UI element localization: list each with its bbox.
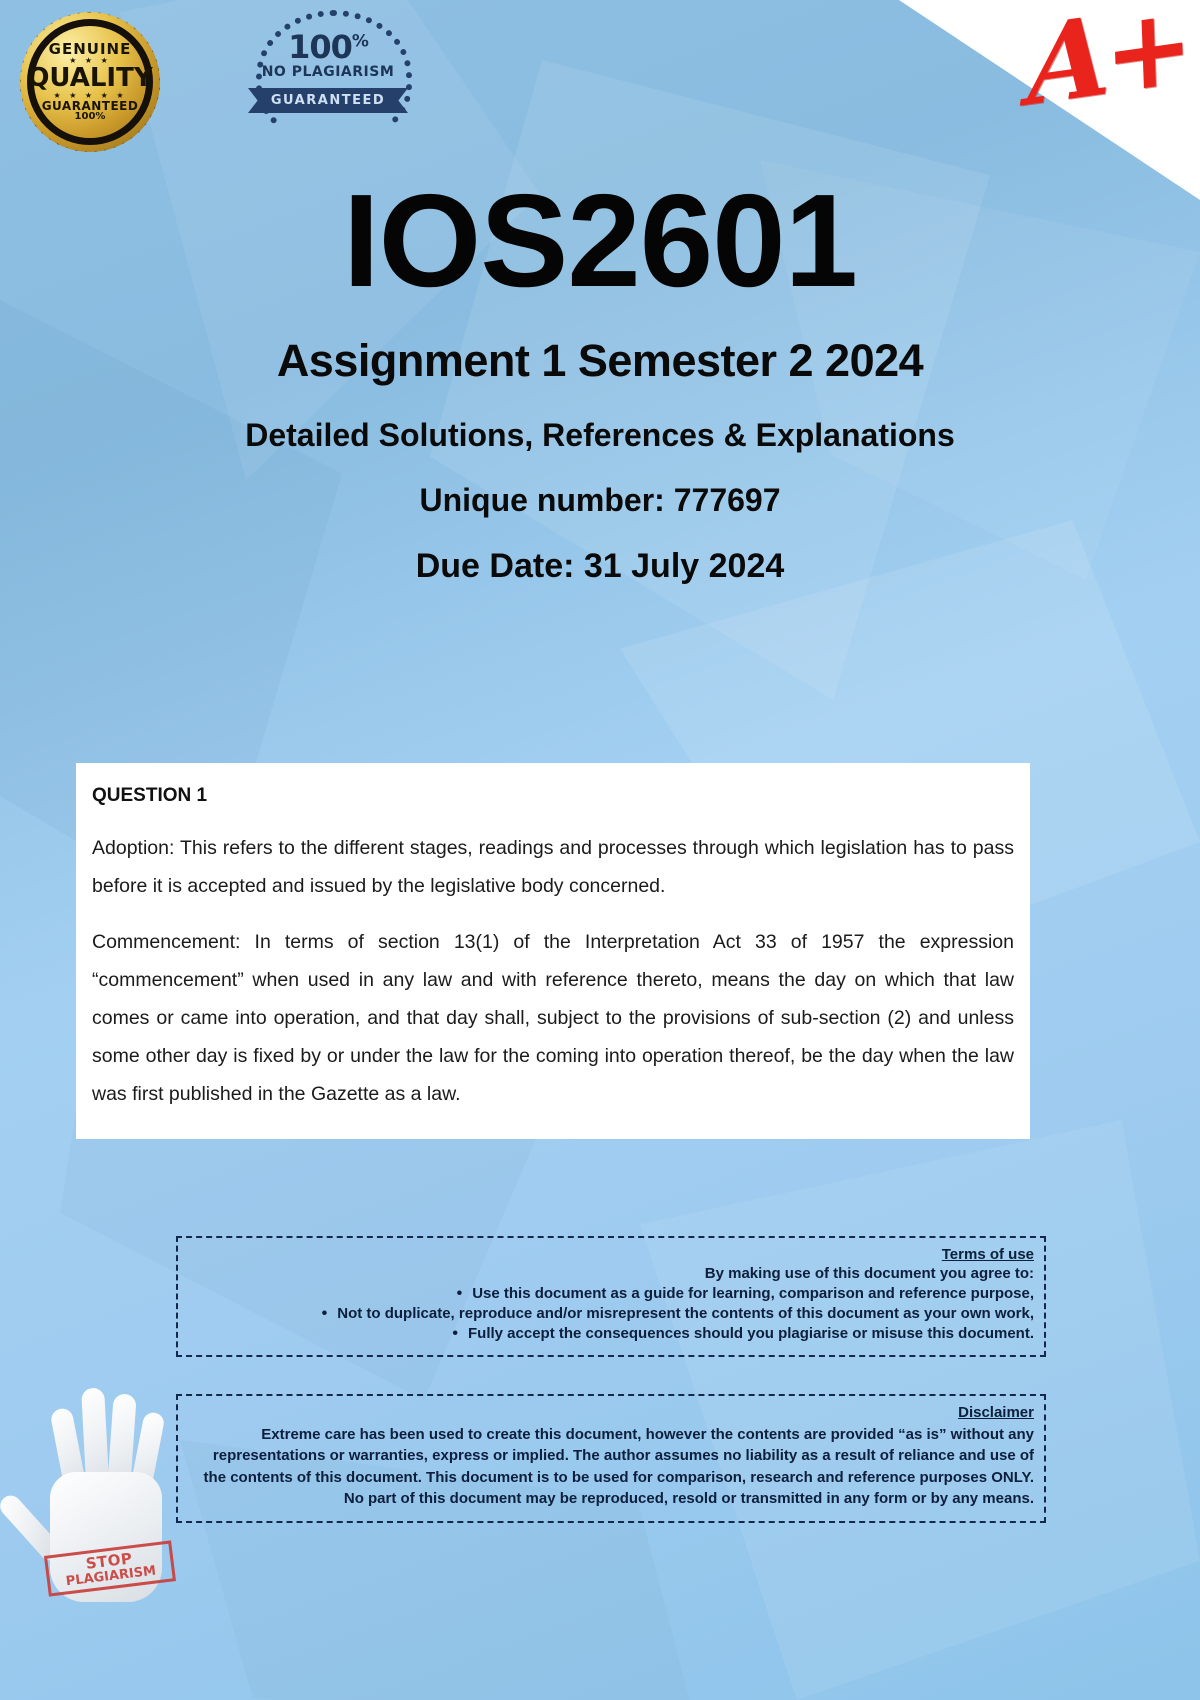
quality-guaranteed-seal-icon: GENUINE ★ ★ ★ QUALITY ★ ★ ★ ★ ★ GUARANTE… xyxy=(20,12,160,152)
terms-item-text: Not to duplicate, reproduce and/or misre… xyxy=(337,1305,1034,1322)
terms-list-item: •Use this document as a guide for learni… xyxy=(188,1285,1034,1303)
bullet-icon: • xyxy=(457,1285,463,1303)
terms-list-item: •Fully accept the consequences should yo… xyxy=(188,1325,1034,1343)
terms-of-use-title: Terms of use xyxy=(188,1246,1034,1263)
course-code-title: IOS2601 xyxy=(0,175,1200,307)
disclaimer-title: Disclaimer xyxy=(188,1404,1034,1421)
terms-of-use-box: Terms of use By making use of this docum… xyxy=(176,1236,1046,1357)
bullet-icon: • xyxy=(322,1305,328,1323)
assignment-subtitle: Assignment 1 Semester 2 2024 xyxy=(0,335,1200,387)
document-page: A+ GENUINE ★ ★ ★ QUALITY ★ ★ ★ ★ ★ GUARA… xyxy=(0,0,1200,1700)
no-plagiarism-percent-symbol: % xyxy=(352,31,368,51)
no-plagiarism-label: NO PLAGIARISM xyxy=(248,64,408,80)
stop-plagiarism-hand-icon: STOP PLAGIARISM xyxy=(14,1368,214,1628)
terms-item-text: Fully accept the consequences should you… xyxy=(468,1325,1034,1342)
terms-of-use-list: •Use this document as a guide for learni… xyxy=(188,1285,1034,1343)
terms-of-use-lead: By making use of this document you agree… xyxy=(188,1265,1034,1282)
terms-item-text: Use this document as a guide for learnin… xyxy=(472,1285,1034,1302)
unique-number-line: Unique number: 777697 xyxy=(0,482,1200,519)
title-block: IOS2601 Assignment 1 Semester 2 2024 Det… xyxy=(0,175,1200,586)
question-panel: QUESTION 1 Adoption: This refers to the … xyxy=(76,763,1030,1139)
disclaimer-box: Disclaimer Extreme care has been used to… xyxy=(176,1394,1046,1523)
quality-seal-main-label: QUALITY xyxy=(27,65,152,92)
disclaimer-body: Extreme care has been used to create thi… xyxy=(188,1424,1034,1509)
no-plagiarism-percent-value: 100 xyxy=(288,28,352,66)
bullet-icon: • xyxy=(452,1325,458,1343)
terms-list-item: •Not to duplicate, reproduce and/or misr… xyxy=(188,1305,1034,1323)
tagline-subtitle: Detailed Solutions, References & Explana… xyxy=(0,417,1200,454)
question-paragraph-adoption: Adoption: This refers to the different s… xyxy=(92,829,1014,905)
quality-seal-text: GENUINE ★ ★ ★ QUALITY ★ ★ ★ ★ ★ GUARANTE… xyxy=(27,42,152,123)
due-date-line: Due Date: 31 July 2024 xyxy=(0,547,1200,586)
no-plagiarism-ribbon: GUARANTEED xyxy=(248,88,408,113)
no-plagiarism-percent: 100% xyxy=(248,28,408,66)
quality-seal-percent: 100% xyxy=(27,112,152,122)
question-paragraph-commencement: Commencement: In terms of section 13(1) … xyxy=(92,923,1014,1113)
a-plus-grade-icon: A+ xyxy=(1025,0,1190,122)
question-heading: QUESTION 1 xyxy=(92,785,1014,807)
quality-seal-top-label: GENUINE xyxy=(27,42,152,57)
no-plagiarism-seal-icon: 100% NO PLAGIARISM GUARANTEED xyxy=(248,10,408,160)
